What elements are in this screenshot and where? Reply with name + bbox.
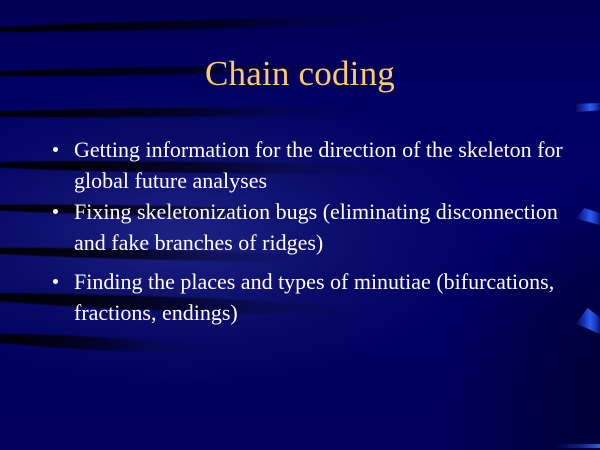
bullet-item-2-text: Fixing skeletonization bugs (eliminating…: [74, 196, 564, 258]
bullet-marker-icon: [53, 209, 58, 214]
bullet-item-1-text: Getting information for the direction of…: [74, 134, 564, 196]
slide-content: Chain coding Getting information for the…: [0, 0, 600, 450]
slide-canvas: Chain coding Getting information for the…: [0, 0, 600, 450]
bullet-marker-icon: [53, 279, 58, 284]
bullet-item-3-text: Finding the places and types of minutiae…: [74, 266, 564, 328]
slide-title: Chain coding: [0, 54, 600, 94]
bullet-item-3: Finding the places and types of minutiae…: [44, 266, 564, 328]
bullet-item-2: Fixing skeletonization bugs (eliminating…: [44, 196, 564, 258]
bullet-item-1: Getting information for the direction of…: [44, 134, 564, 196]
bullet-list: Getting information for the direction of…: [44, 134, 564, 328]
bullet-marker-icon: [53, 147, 58, 152]
